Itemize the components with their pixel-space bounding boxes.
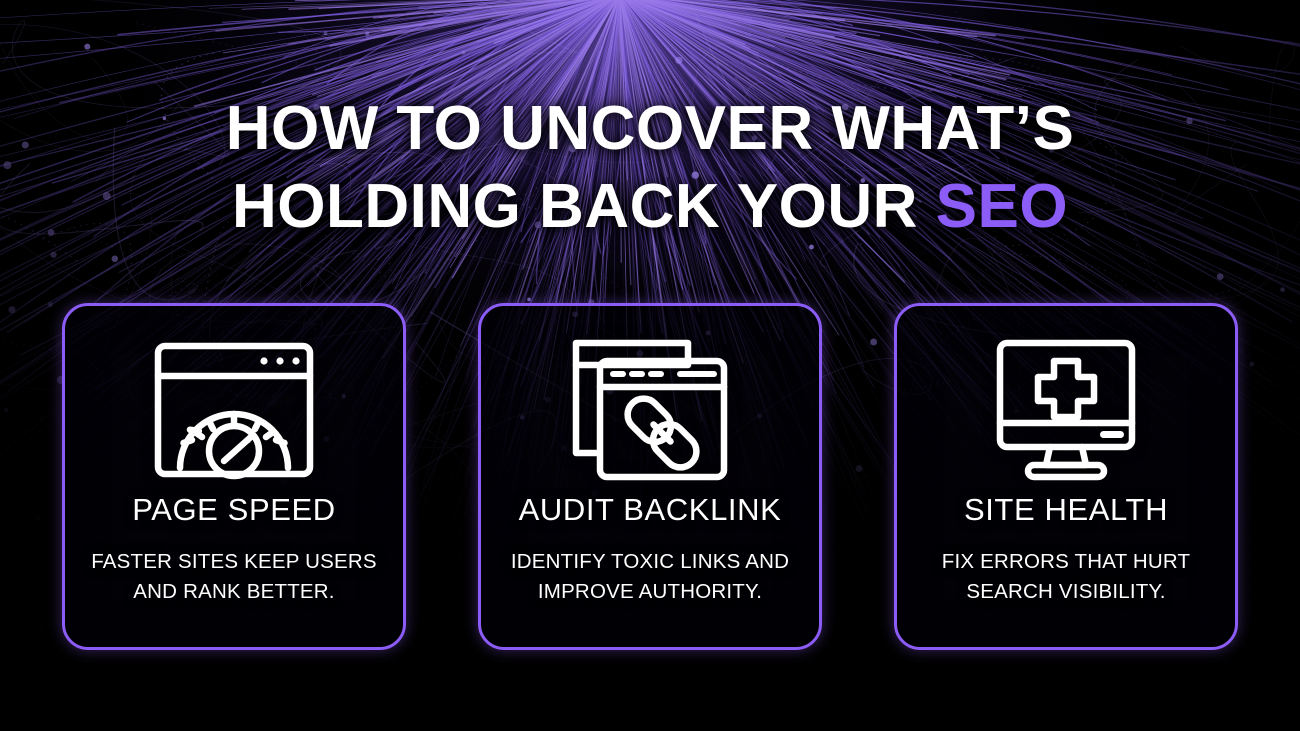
feature-card-site-health[interactable]: SITE HEALTH FIX ERRORS THAT HURT SEARCH … — [894, 303, 1238, 650]
headline-line-2: HOLDING BACK YOUR SEO — [0, 168, 1300, 246]
card-title: SITE HEALTH — [964, 494, 1168, 525]
card-description-line-2: AND RANK BETTER. — [133, 580, 334, 603]
card-description-line-2: SEARCH VISIBILITY. — [966, 580, 1165, 603]
card-description-line-1: FIX ERRORS THAT HURT — [942, 550, 1191, 573]
feature-card-list: PAGE SPEED FASTER SITES KEEP USERS AND R… — [62, 303, 1238, 650]
card-description-line-1: FASTER SITES KEEP USERS — [91, 550, 377, 573]
page-title: HOW TO UNCOVER WHAT’S HOLDING BACK YOUR … — [0, 90, 1300, 246]
stacked-windows-link-icon — [568, 330, 732, 490]
headline-accent-seo: SEO — [936, 172, 1068, 241]
feature-card-audit-backlink[interactable]: AUDIT BACKLINK IDENTIFY TOXIC LINKS AND … — [478, 303, 822, 650]
monitor-health-cross-icon — [984, 330, 1148, 490]
headline-line-2-prefix: HOLDING BACK YOUR — [232, 172, 936, 241]
card-description: FIX ERRORS THAT HURT SEARCH VISIBILITY. — [906, 547, 1226, 607]
card-description: FASTER SITES KEEP USERS AND RANK BETTER. — [74, 547, 394, 607]
card-description-line-1: IDENTIFY TOXIC LINKS AND — [511, 550, 789, 573]
infographic-canvas: HOW TO UNCOVER WHAT’S HOLDING BACK YOUR … — [0, 0, 1300, 731]
browser-speedometer-icon — [152, 330, 316, 490]
headline-line-1: HOW TO UNCOVER WHAT’S — [0, 90, 1300, 168]
feature-card-page-speed[interactable]: PAGE SPEED FASTER SITES KEEP USERS AND R… — [62, 303, 406, 650]
card-description-line-2: IMPROVE AUTHORITY. — [538, 580, 762, 603]
card-description: IDENTIFY TOXIC LINKS AND IMPROVE AUTHORI… — [490, 547, 810, 607]
card-title: PAGE SPEED — [132, 494, 336, 525]
card-title: AUDIT BACKLINK — [519, 494, 782, 525]
